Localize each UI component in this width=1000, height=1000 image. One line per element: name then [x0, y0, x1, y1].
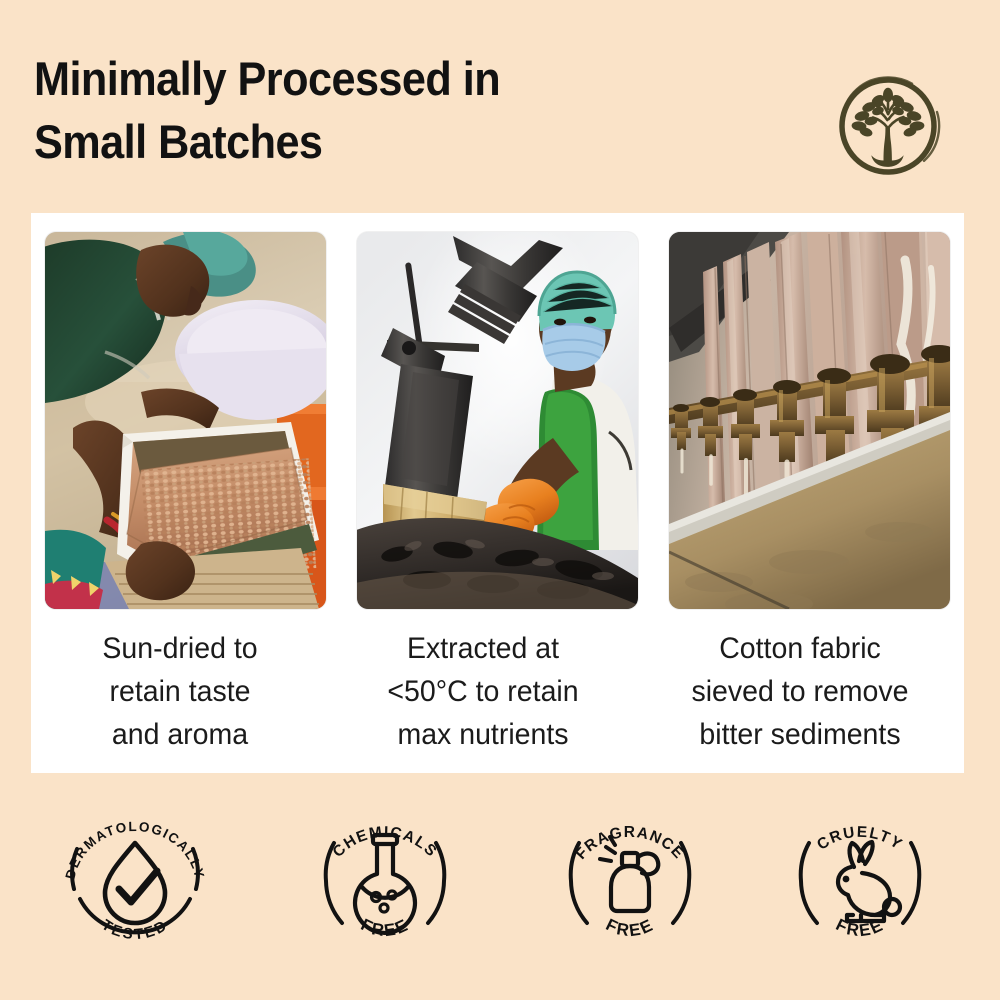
page-title: Minimally Processed in Small Batches: [34, 48, 788, 173]
badge-3-bottom-text: FREE: [603, 915, 657, 940]
photo-1-scene: [45, 232, 326, 609]
sun-drying-groundnuts-photo: [45, 232, 326, 609]
badge-1-top-text: DERMATOLOGICALLY: [63, 819, 208, 881]
badge-cruelty-free: CRUELTY FREE: [775, 795, 945, 960]
badge-chemicals-free: CHEMICALS FREE: [300, 795, 470, 960]
step-1-caption: Sun-dried to retain taste and aroma: [52, 628, 309, 757]
badge-2-art: CHEMICALS FREE: [300, 795, 470, 960]
caption-row: Sun-dried to retain taste and aroma Extr…: [45, 628, 950, 757]
certification-badges: DERMATOLOGICALLY TESTED: [0, 795, 1000, 970]
badge-2-bottom-text: FREE: [358, 915, 412, 940]
cotton-fabric-filtration-taps-photo: [669, 232, 950, 609]
badge-3-top-text: FRAGRANCE: [572, 824, 687, 863]
wooden-cold-press-extraction-photo: [357, 232, 638, 609]
step-3-caption: Cotton fabric sieved to remove bitter se…: [658, 628, 943, 757]
photo-row: [45, 232, 950, 612]
tree-of-life-circle-logo-icon: [826, 64, 950, 188]
photo-3-scene: [669, 232, 950, 609]
step-2-caption: Extracted at <50°C to retain max nutrien…: [340, 628, 625, 757]
badge-3-art: FRAGRANCE FREE: [545, 795, 715, 960]
badge-4-art: CRUELTY FREE: [775, 795, 945, 960]
product-infographic: Minimally Processed in Small Batches: [0, 0, 1000, 1000]
brand-logo: [826, 64, 950, 188]
badge-1-bottom-text: TESTED: [99, 916, 172, 943]
badge-dermatologically-tested: DERMATOLOGICALLY TESTED: [50, 795, 220, 960]
badge-fragrance-free: FRAGRANCE FREE: [545, 795, 715, 960]
photo-2-scene: [357, 232, 638, 609]
header: Minimally Processed in Small Batches: [34, 48, 854, 173]
badge-1-art: DERMATOLOGICALLY TESTED: [50, 795, 220, 960]
process-panel: Sun-dried to retain taste and aroma Extr…: [31, 213, 964, 773]
